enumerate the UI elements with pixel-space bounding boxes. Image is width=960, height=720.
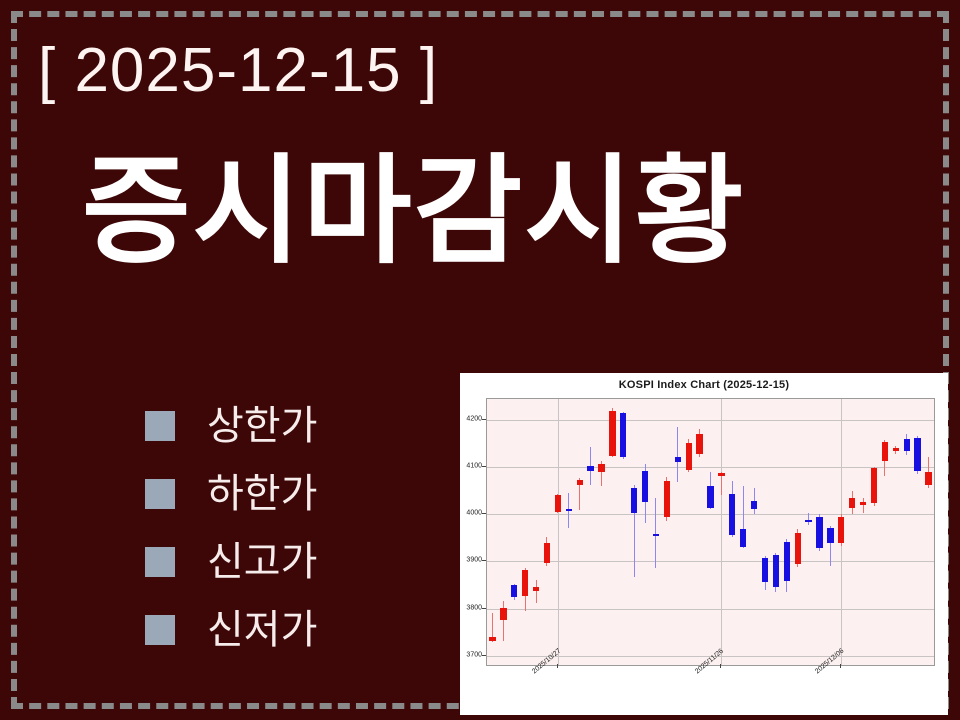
candle-body <box>914 438 920 471</box>
candle-body <box>849 498 855 508</box>
gridline-horizontal <box>487 467 934 468</box>
candle-body <box>838 517 844 542</box>
candle-body <box>882 442 888 461</box>
gridline-horizontal <box>487 420 934 421</box>
candle-body <box>860 502 866 506</box>
candle-wick <box>536 580 537 603</box>
candle-body <box>533 587 539 590</box>
legend-item[interactable]: 신저가 <box>145 596 435 664</box>
candle-body <box>773 555 779 587</box>
candle-body <box>729 494 735 535</box>
candle-body <box>805 520 811 522</box>
candle-body <box>871 468 877 503</box>
gridline-vertical <box>558 399 559 665</box>
candle-body <box>751 501 757 509</box>
candle-body <box>511 585 517 596</box>
x-axis-tick-mark <box>720 664 721 668</box>
y-axis-tick-mark <box>482 608 486 609</box>
page-title: 증시마감시황 <box>82 148 745 278</box>
candle-body <box>740 529 746 547</box>
candle-body <box>587 466 593 471</box>
candle-body <box>925 472 931 485</box>
candle-body <box>904 439 910 451</box>
gridline-horizontal <box>487 514 934 515</box>
candle-body <box>827 528 833 542</box>
candle-body <box>631 488 637 513</box>
candle-body <box>686 443 692 470</box>
square-bullet-icon <box>145 547 175 577</box>
square-bullet-icon <box>145 479 175 509</box>
y-axis-tick-mark <box>482 513 486 514</box>
gridline-vertical <box>721 399 722 665</box>
candle-body <box>489 637 495 641</box>
legend-item-label: 신저가 <box>207 610 317 650</box>
chart-figure: KOSPI Index Chart (2025-12-15) 370038003… <box>460 373 948 715</box>
candle-body <box>566 509 572 511</box>
legend-item-label: 상한가 <box>207 406 317 446</box>
square-bullet-icon <box>145 411 175 441</box>
square-bullet-icon <box>145 615 175 645</box>
candle-body <box>816 517 822 549</box>
candle-body <box>762 558 768 582</box>
legend-item[interactable]: 상한가 <box>145 392 435 460</box>
candle-body <box>620 413 626 457</box>
y-axis-tick-mark <box>482 466 486 467</box>
y-axis-tick-mark <box>482 655 486 656</box>
y-axis-tick-mark <box>482 419 486 420</box>
candle-body <box>696 434 702 454</box>
candle-body <box>675 457 681 461</box>
candle-body <box>642 471 648 502</box>
candle-wick <box>677 427 678 482</box>
candle-body <box>653 534 659 536</box>
candle-body <box>544 543 550 564</box>
candle-body <box>609 411 615 456</box>
candle-body <box>893 448 899 451</box>
gridline-horizontal <box>487 561 934 562</box>
candle-body <box>555 495 561 512</box>
legend-item[interactable]: 신고가 <box>145 528 435 596</box>
candle-body <box>795 533 801 564</box>
x-axis-tick-mark <box>840 664 841 668</box>
candle-body <box>664 481 670 517</box>
candle-body <box>522 570 528 596</box>
y-axis-tick-mark <box>482 560 486 561</box>
gridline-horizontal <box>487 609 934 610</box>
legend-item[interactable]: 하한가 <box>145 460 435 528</box>
date-header: [ 2025-12-15 ] <box>38 40 438 102</box>
candle-body <box>598 464 604 472</box>
candle-wick <box>863 498 864 513</box>
candle-body <box>784 542 790 581</box>
candle-body <box>718 473 724 476</box>
legend-item-label: 하한가 <box>207 474 317 514</box>
x-axis-tick-mark <box>557 664 558 668</box>
candle-body <box>500 608 506 621</box>
chart-plot-area <box>486 398 935 666</box>
legend-list: 상한가하한가신고가신저가 <box>145 392 435 664</box>
legend-item-label: 신고가 <box>207 542 317 582</box>
candle-body <box>577 480 583 485</box>
candle-body <box>707 486 713 508</box>
chart-title: KOSPI Index Chart (2025-12-15) <box>460 379 948 391</box>
poster-canvas: [ 2025-12-15 ] 증시마감시황 상한가하한가신고가신저가 KOSPI… <box>0 0 960 720</box>
